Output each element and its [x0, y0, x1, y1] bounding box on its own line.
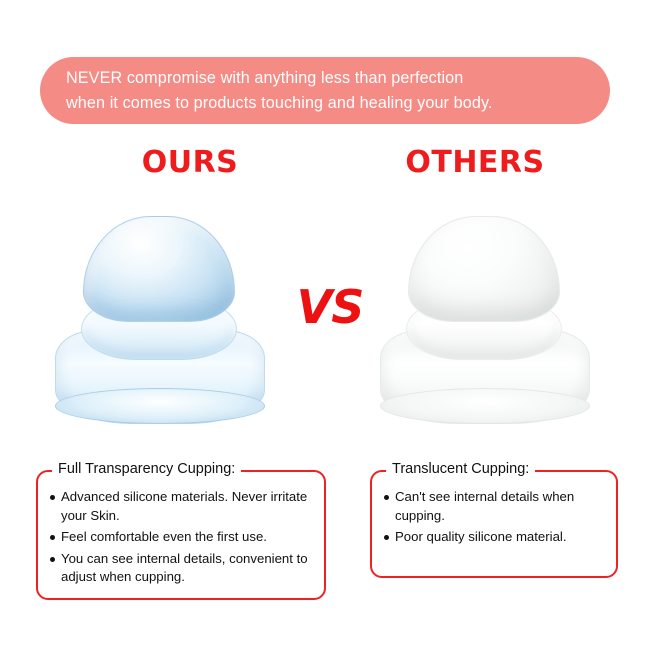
- info-box-ours: Full Transparency Cupping: Advanced sili…: [36, 470, 326, 600]
- cup-dome: [83, 216, 235, 322]
- product-image-others: [370, 212, 600, 432]
- cup-rim: [55, 388, 265, 424]
- banner-line-2: when it comes to products touching and h…: [66, 91, 584, 116]
- list-item: Advanced silicone materials. Never irrit…: [50, 488, 314, 525]
- promo-banner: NEVER compromise with anything less than…: [40, 57, 610, 124]
- list-item: Can't see internal details when cupping.: [384, 488, 606, 525]
- info-box-ours-title: Full Transparency Cupping:: [52, 461, 241, 477]
- heading-others: OTHERS: [340, 145, 610, 180]
- list-item: Poor quality silicone material.: [384, 528, 606, 547]
- product-image-ours: [45, 212, 275, 432]
- vs-label: VS: [290, 280, 370, 334]
- list-item: Feel comfortable even the first use.: [50, 528, 314, 547]
- info-box-others: Translucent Cupping: Can't see internal …: [370, 470, 618, 578]
- heading-ours: OURS: [55, 145, 325, 180]
- cup-shape-transparent: [45, 212, 275, 432]
- cup-rim: [380, 388, 590, 424]
- cup-dome: [408, 216, 560, 322]
- cup-shape-translucent: [370, 212, 600, 432]
- info-box-others-title: Translucent Cupping:: [386, 461, 535, 477]
- info-box-others-list: Can't see internal details when cupping.…: [372, 472, 616, 547]
- list-item: You can see internal details, convenient…: [50, 550, 314, 587]
- info-box-ours-list: Advanced silicone materials. Never irrit…: [38, 472, 324, 587]
- banner-line-1: NEVER compromise with anything less than…: [66, 66, 584, 91]
